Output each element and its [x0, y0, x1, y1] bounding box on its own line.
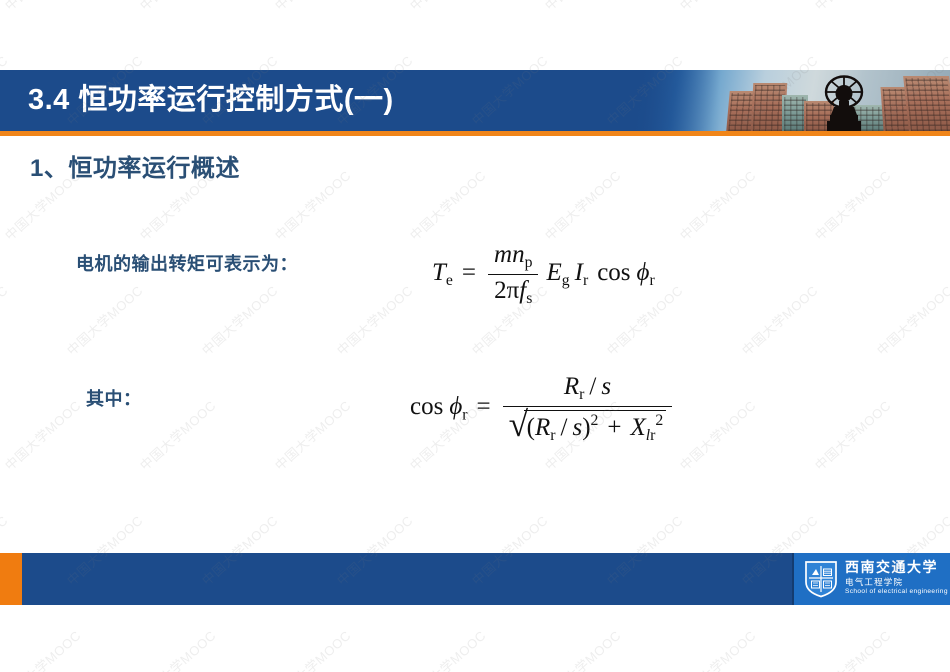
banner-statue-silhouette — [814, 73, 874, 131]
watermark-text: 中国大学MOOC — [135, 625, 219, 672]
watermark-text: 中国大学MOOC — [540, 0, 624, 14]
header-banner-photo — [600, 70, 950, 131]
shield-emblem-icon — [804, 560, 838, 598]
watermark-text: 中国大学MOOC — [135, 0, 219, 14]
section-heading: 1、恒功率运行概述 — [30, 148, 240, 183]
watermark-text: 中国大学MOOC — [675, 0, 759, 14]
slide-content: 1、恒功率运行概述 电机的输出转矩可表示为： Te=mnp2πfsEgIrcos… — [0, 136, 950, 553]
page-title: 3.4 恒功率运行控制方式(一) — [28, 70, 394, 131]
watermark-text: 中国大学MOOC — [270, 625, 354, 672]
logo-university-name: 西南交通大学 — [845, 562, 948, 577]
equation-power-factor: cosϕr=Rr/s√(Rr/s)2+Xlr2 — [410, 372, 675, 445]
watermark-text: 中国大学MOOC — [945, 625, 950, 672]
banner-left-fade — [600, 70, 720, 131]
watermark-text: 中国大学MOOC — [0, 625, 84, 672]
watermark-text: 中国大学MOOC — [810, 0, 894, 14]
watermark-text: 中国大学MOOC — [540, 625, 624, 672]
logo-divider — [792, 553, 794, 605]
university-logo: 西南交通大学 电气工程学院 School of electrical engin… — [792, 553, 950, 605]
watermark-text: 中国大学MOOC — [810, 625, 894, 672]
watermark-text: 中国大学MOOC — [675, 625, 759, 672]
watermark-text: 中国大学MOOC — [0, 0, 84, 14]
watermark-text: 中国大学MOOC — [405, 0, 489, 14]
logo-school-name-en: School of electrical engineering — [845, 588, 948, 596]
banner-building — [903, 76, 950, 131]
where-label: 其中： — [86, 385, 142, 411]
slide-footer: 西南交通大学 电气工程学院 School of electrical engin… — [0, 553, 950, 605]
torque-label: 电机的输出转矩可表示为： — [76, 250, 298, 276]
watermark-text: 中国大学MOOC — [945, 0, 950, 14]
watermark-text: 中国大学MOOC — [405, 625, 489, 672]
footer-orange-accent — [0, 553, 22, 605]
slide-canvas: 3.4 恒功率运行控制方式(一) 1、恒功率运行概述 电机的输出转矩可表示为： … — [0, 0, 950, 672]
equation-output-torque: Te=mnp2πfsEgIrcosϕr — [432, 240, 655, 308]
logo-text-block: 西南交通大学 电气工程学院 School of electrical engin… — [845, 562, 948, 597]
watermark-text: 中国大学MOOC — [270, 0, 354, 14]
logo-school-name-cn: 电气工程学院 — [845, 577, 948, 588]
slide-header: 3.4 恒功率运行控制方式(一) — [0, 70, 950, 131]
